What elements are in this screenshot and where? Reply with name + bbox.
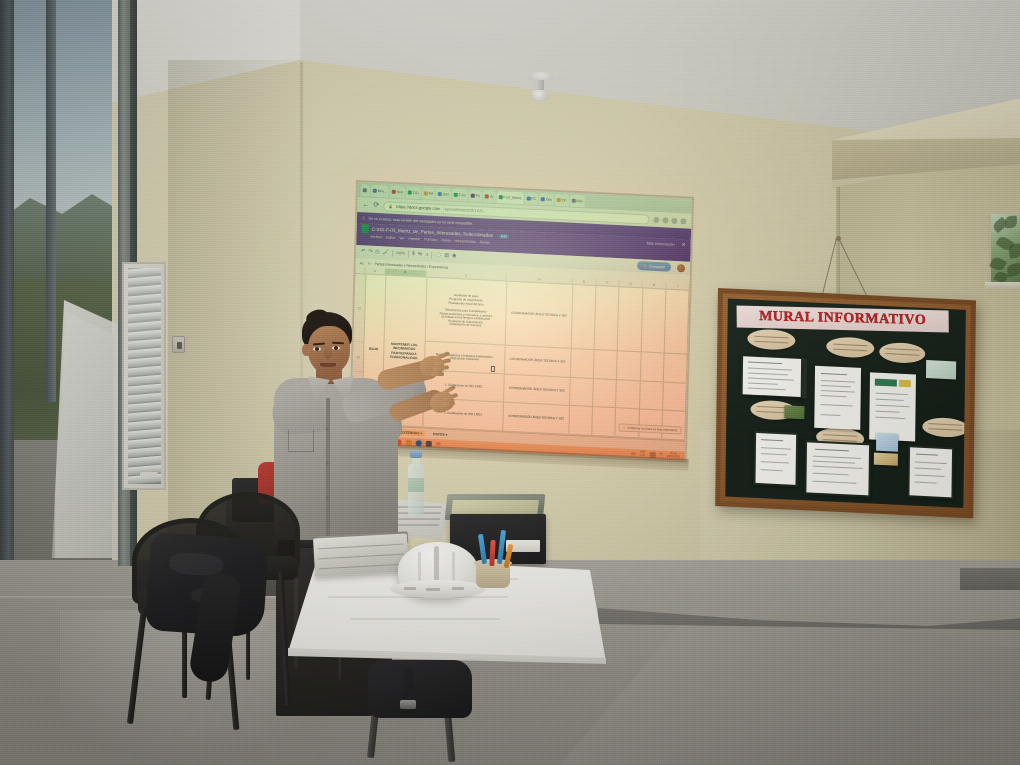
menu-item-datos[interactable]: Datos [441, 238, 450, 242]
table-row[interactable] [640, 381, 663, 411]
table-row[interactable] [641, 288, 665, 354]
tab-favicon-icon [454, 192, 458, 196]
grid-column-D[interactable]: COORDINADOR ÁREA TÉCNICA Y SIGCOORDINADO… [503, 282, 573, 435]
undo-icon[interactable]: ↶ [361, 249, 365, 254]
menu-item-herramientas[interactable]: Herramientas [455, 239, 476, 244]
menu-item-formato[interactable]: Formato [424, 237, 437, 242]
menu-item-archivo[interactable]: Archivo [370, 235, 382, 240]
url-path: /spreadsheets/d/1AN... [443, 206, 486, 213]
tab-label: Inici [576, 198, 582, 202]
print-icon[interactable]: ⎙ [375, 250, 379, 255]
hook-icon [836, 236, 841, 241]
table-row[interactable] [593, 379, 616, 409]
louver-handle[interactable] [140, 472, 158, 477]
table-row[interactable] [664, 290, 688, 356]
tab-favicon-icon [485, 194, 489, 198]
mural-informativo: MURAL INFORMATIVO [715, 288, 976, 518]
table-row[interactable] [569, 406, 592, 436]
board-title-banner: MURAL INFORMATIVO [737, 305, 949, 332]
leaf-icon [1008, 243, 1020, 259]
column-header-F[interactable]: F [596, 279, 619, 286]
browser-tab-10[interactable]: FC [524, 192, 538, 205]
menu-item-insertar[interactable]: Insertar [409, 237, 421, 242]
foto-mapa [926, 360, 956, 379]
tab-favicon-icon [471, 193, 475, 197]
table-row[interactable] [640, 353, 663, 383]
browser-action-icons[interactable] [653, 216, 686, 224]
menu-item-ayuda[interactable]: Ayuda [480, 240, 490, 244]
leaf-icon [1005, 216, 1018, 229]
browser-tab-13[interactable]: Inici [569, 194, 584, 207]
close-icon[interactable]: ✕ [681, 242, 685, 248]
mochila-negra[interactable] [368, 660, 472, 718]
tab-favicon-icon [373, 188, 377, 192]
tab-label: F-02 [459, 193, 466, 197]
ojo-derecho [332, 346, 340, 350]
cell-cursor-icon [491, 366, 495, 372]
toolbar-divider-3 [431, 252, 432, 259]
tab-label: F-02_Matriz [503, 195, 521, 200]
boton-camisa-3 [326, 496, 329, 499]
comment-icon[interactable]: ▤ [444, 253, 449, 258]
select-all-corner[interactable] [355, 267, 365, 273]
browser-tab-9[interactable]: F-02_Matriz [496, 190, 523, 203]
table-row[interactable] [594, 350, 617, 380]
column-header-A[interactable]: A [365, 267, 385, 274]
hebilla-mochila [400, 700, 416, 709]
foto-certificado [876, 433, 898, 452]
tab-label: Doc [546, 197, 552, 201]
warning-icon: ⚠ [623, 426, 626, 430]
share-label: Compartir [649, 264, 665, 269]
profile-icon[interactable] [671, 217, 677, 223]
tab-favicon-icon [392, 189, 396, 193]
paint-format-icon[interactable]: 🖌 [382, 250, 388, 255]
correa-mochila [404, 668, 414, 702]
foto-paisaje [784, 405, 804, 419]
back-arrow-icon[interactable]: ← [362, 201, 369, 208]
extensions-icon[interactable] [662, 217, 668, 223]
tapa-botella[interactable] [410, 450, 422, 458]
percent-icon[interactable]: % [418, 252, 423, 257]
table-row[interactable]: COORDINADOR ÁREA TÉCNICA Y SIG [505, 346, 571, 378]
ojo-izquierdo [313, 347, 321, 351]
oval-plaque-1 [747, 328, 795, 350]
warning-icon: ⚠ [362, 215, 366, 220]
lock-share-icon: 🔒 [643, 264, 648, 268]
browser-tab-1[interactable]: Mi u... [371, 184, 390, 197]
decimal-icon[interactable]: .0 [425, 253, 428, 257]
door-leaf[interactable] [52, 300, 126, 558]
browser-tab-3[interactable]: (11) [406, 186, 421, 199]
tab-favicon-icon [498, 195, 502, 199]
column-header-E[interactable]: E [573, 278, 596, 285]
baseboard-far [960, 568, 1020, 590]
tapeta-camisa [326, 398, 330, 546]
tab-favicon-icon [424, 191, 428, 195]
table-row[interactable] [616, 380, 639, 410]
table-row[interactable] [592, 408, 615, 438]
name-box[interactable]: A1 [360, 261, 364, 265]
tab-label: FC [531, 196, 536, 200]
tab-favicon-icon [571, 198, 575, 202]
browser-tab-12[interactable]: Dri [555, 193, 569, 206]
list-item [806, 442, 869, 495]
table-row[interactable]: COORDINADOR ÁREA TÉCNICA Y SIG [504, 375, 570, 407]
oval-plaque-3 [879, 342, 925, 364]
tab-label: AI [490, 194, 493, 198]
table-row[interactable] [618, 287, 642, 353]
tab-favicon-icon [438, 192, 442, 196]
tab-label: Dri [562, 198, 566, 202]
louver-slats [128, 268, 161, 484]
toast-text: Colaborar en línea es más importante [627, 426, 677, 433]
tomacorriente[interactable] [172, 336, 185, 353]
lock-icon: 🔒 [388, 204, 393, 209]
exterior-sky [0, 0, 112, 210]
boca [320, 363, 336, 367]
table-row[interactable] [617, 352, 640, 382]
browser-tab-8[interactable]: AI [483, 190, 496, 203]
share-button[interactable]: 🔒 Compartir [637, 261, 672, 272]
tab-favicon-icon [541, 197, 545, 201]
table-row[interactable]: COORDINADOR ÁREA TÉCNICA Y SIG [506, 282, 573, 350]
browser-tab-5[interactable]: SAI [436, 187, 451, 200]
edit-badge: Edit [499, 234, 509, 238]
tab-label: FC [476, 193, 481, 197]
bookmark-star-icon[interactable] [653, 216, 659, 222]
browser-tab-11[interactable]: Doc [539, 193, 554, 206]
list-item [755, 433, 796, 485]
oreja [302, 344, 310, 356]
tab-favicon-icon [526, 196, 530, 200]
toolbar-divider [392, 250, 393, 257]
ala-casco [390, 580, 486, 598]
ceiling-light-bulb [532, 90, 548, 102]
url-host: https://docs.google.com [396, 204, 440, 211]
leaf-icon [989, 255, 1007, 272]
ventana-con-vegetacion [988, 214, 1020, 284]
foto-decorativa [874, 453, 898, 466]
meet-icon[interactable]: ◉ [452, 254, 457, 259]
network-label: ES [659, 453, 663, 456]
table-row[interactable] [595, 286, 619, 352]
more-info-link[interactable]: Más información [647, 241, 675, 246]
toolbar-divider-2 [408, 251, 409, 258]
column-header-H[interactable]: H [643, 281, 666, 288]
browser-tab-6[interactable]: F-02 [451, 188, 467, 201]
list-item [814, 366, 861, 430]
table-row[interactable] [570, 378, 593, 408]
currency-icon[interactable]: $ [412, 252, 415, 257]
list-item [909, 447, 952, 497]
redo-icon[interactable]: ↷ [368, 250, 372, 255]
user-avatar[interactable] [677, 264, 685, 272]
browser-tab-4[interactable]: Drf [421, 187, 435, 200]
menu-item-editar[interactable]: Editar [386, 235, 395, 239]
tab-favicon-icon [363, 188, 367, 192]
window-sill [985, 282, 1020, 289]
door-frame-mullion [46, 0, 56, 402]
menu-icon[interactable] [680, 218, 686, 224]
list-item [869, 372, 916, 441]
board-felt: MURAL INFORMATIVO [725, 298, 966, 507]
nariz [324, 348, 332, 359]
reload-icon[interactable]: ⟳ [373, 202, 379, 209]
board-title-text: MURAL INFORMATIVO [759, 309, 926, 329]
history-icon[interactable]: 🕘 [435, 253, 441, 258]
menu-item-ver[interactable]: Ver [399, 236, 404, 240]
grid-column-I[interactable] [662, 290, 689, 441]
browser-tab-0[interactable] [361, 184, 370, 196]
sheets-logo-icon [362, 224, 369, 233]
tab-label: SAI [443, 192, 449, 196]
table-row[interactable] [571, 285, 595, 351]
tab-label: SGI [397, 189, 403, 193]
tray-expand-icon[interactable] [631, 452, 636, 455]
table-row[interactable] [571, 349, 594, 379]
boton-camisa-1 [326, 428, 329, 431]
list-item [743, 356, 801, 397]
bolsillo-camisa [288, 430, 314, 452]
oval-plaque-2 [826, 336, 874, 358]
door-frame-outer [0, 0, 14, 560]
table-row[interactable]: COORDINADOR ÁREA TÉCNICA Y SIG [503, 403, 569, 435]
dedo-4 [431, 372, 444, 377]
column-header-G[interactable]: G [620, 280, 643, 287]
oval-plaque-6 [922, 417, 966, 438]
photo-scene: Mi u...SGI(11)DrfSAIF-02FCAIF-02_MatrizF… [0, 0, 1020, 765]
tab-label: Mi u... [378, 189, 387, 193]
fx-icon: fx [368, 261, 371, 265]
tab-label: Drf [429, 191, 434, 195]
etiqueta-botella [408, 478, 424, 492]
tab-favicon-icon [408, 190, 412, 194]
zoom-icon[interactable]: 100% [396, 252, 405, 256]
browser-tab-7[interactable]: FC [468, 189, 482, 202]
table-row[interactable] [664, 354, 687, 384]
browser-tab-2[interactable]: SGI [390, 185, 405, 198]
tab-favicon-icon [557, 197, 561, 201]
column-header-I[interactable]: I [666, 283, 689, 290]
archivador-gris[interactable] [313, 533, 409, 576]
table-row[interactable] [663, 382, 686, 412]
boton-camisa-2 [326, 462, 329, 465]
tab-label: (11) [413, 190, 419, 194]
